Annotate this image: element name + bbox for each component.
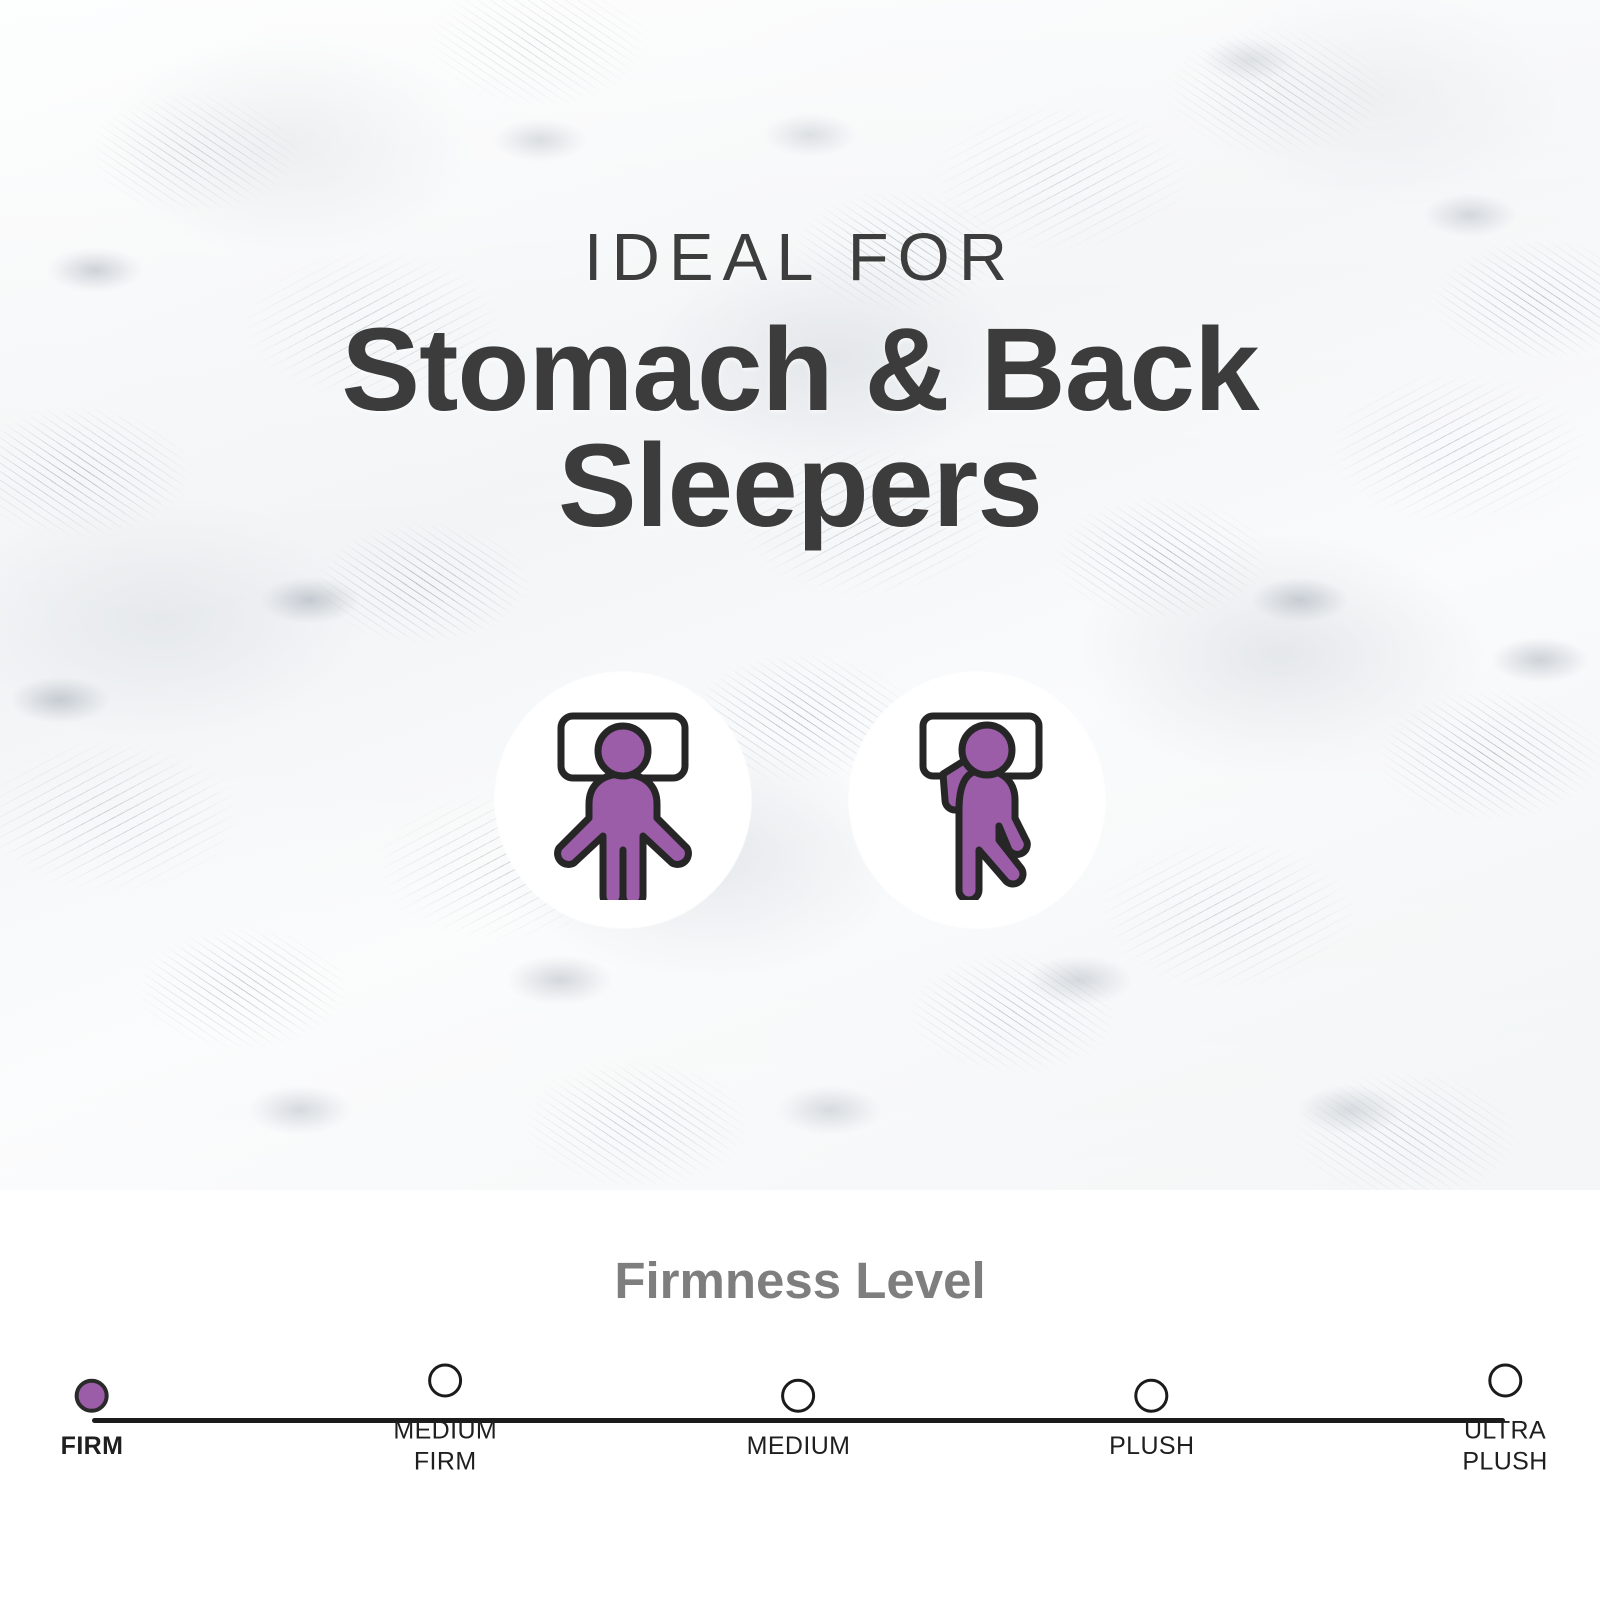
back-sleeper-badge (495, 672, 751, 928)
firmness-stop-dot[interactable] (1488, 1364, 1522, 1398)
firmness-stop-firm[interactable]: FIRM (61, 1379, 124, 1462)
firmness-stop-dot[interactable] (75, 1379, 109, 1413)
firmness-stop-medium-firm[interactable]: MEDIUM FIRM (393, 1364, 497, 1477)
mattress-hero-image: IDEAL FOR Stomach & Back Sleepers (0, 0, 1600, 1190)
firmness-stop-medium[interactable]: MEDIUM (747, 1379, 851, 1462)
firmness-stop-label: ULTRA PLUSH (1462, 1416, 1547, 1477)
headline-line-1: Stomach & Back (341, 304, 1258, 436)
firmness-stop-plush[interactable]: PLUSH (1109, 1379, 1194, 1462)
firmness-stop-dot[interactable] (1135, 1379, 1169, 1413)
stomach-sleeper-badge (849, 672, 1105, 928)
page-title: Stomach & Back Sleepers (0, 291, 1600, 544)
firmness-stop-dot[interactable] (428, 1364, 462, 1398)
firmness-stop-ultra-plush[interactable]: ULTRA PLUSH (1462, 1364, 1547, 1477)
hero-text-block: IDEAL FOR Stomach & Back Sleepers (0, 0, 1600, 544)
firmness-level-section: Firmness Level FIRMMEDIUM FIRMMEDIUMPLUS… (0, 1190, 1600, 1600)
firmness-level-title: Firmness Level (0, 1190, 1600, 1310)
product-infographic: IDEAL FOR Stomach & Back Sleepers (0, 0, 1600, 1600)
firmness-stop-label: MEDIUM (747, 1431, 851, 1462)
firmness-stop-label: FIRM (61, 1431, 124, 1462)
firmness-stop-label: PLUSH (1109, 1431, 1194, 1462)
stomach-sleeper-icon (887, 700, 1067, 900)
firmness-stop-label: MEDIUM FIRM (393, 1416, 497, 1477)
sleeper-position-badges (0, 672, 1600, 928)
firmness-scale[interactable]: FIRMMEDIUM FIRMMEDIUMPLUSHULTRA PLUSH (92, 1418, 1505, 1419)
hero-eyebrow: IDEAL FOR (0, 0, 1600, 291)
back-sleeper-icon (533, 700, 713, 900)
firmness-stop-dot[interactable] (782, 1379, 816, 1413)
headline-line-2: Sleepers (0, 429, 1600, 545)
